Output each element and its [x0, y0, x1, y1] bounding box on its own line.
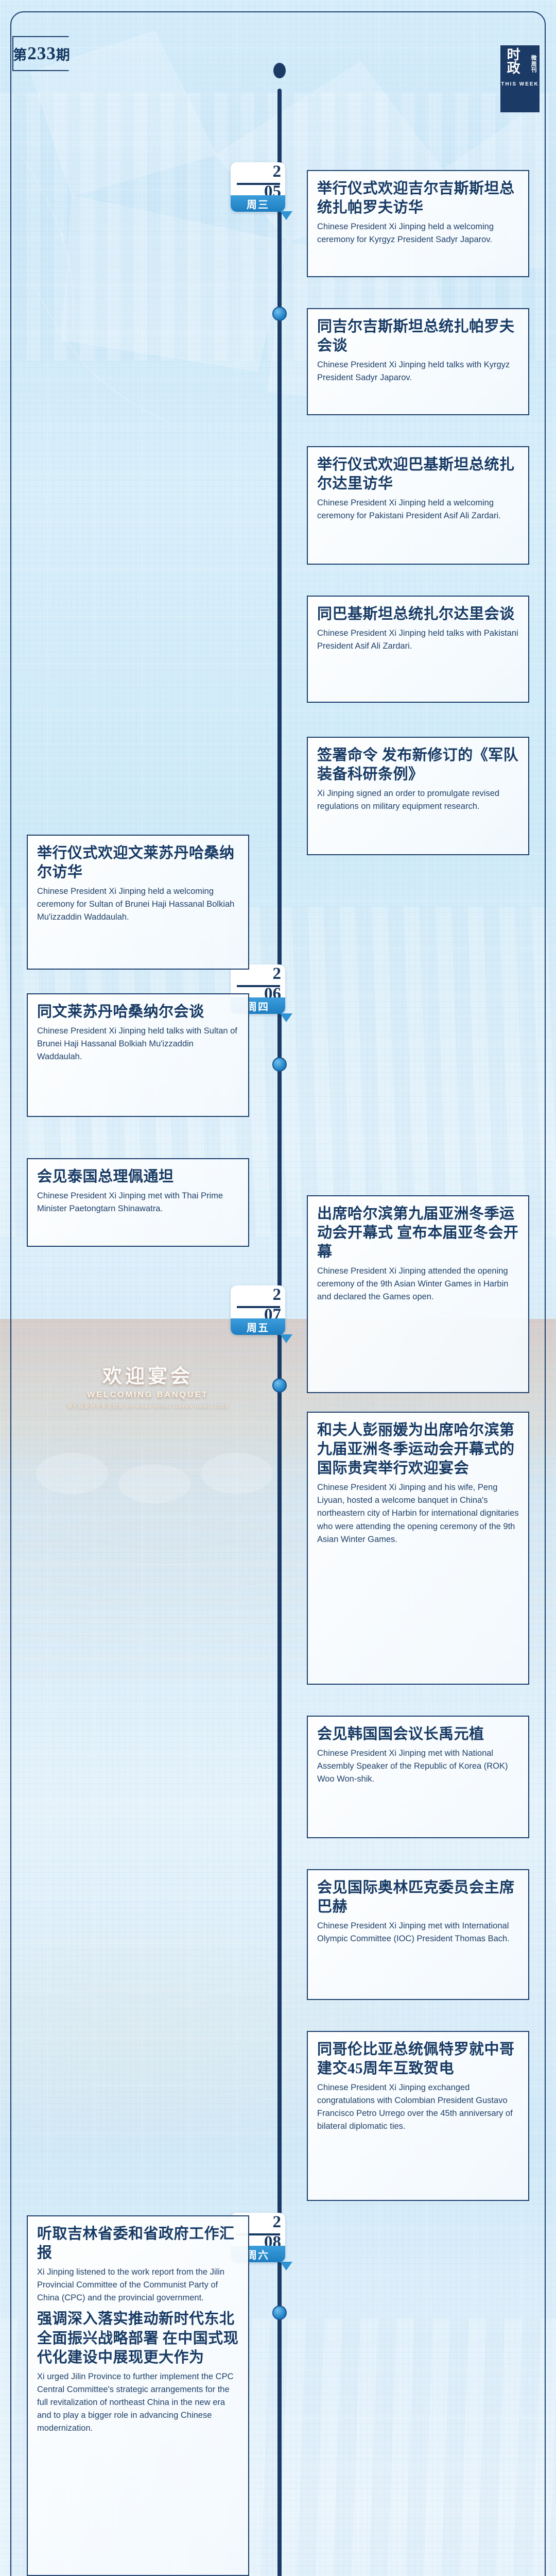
banquet-title-cn: 欢迎宴会 [27, 1360, 269, 1388]
brand-logo-en: THIS WEEK [501, 81, 539, 87]
timeline-node-0208 [272, 2306, 287, 2320]
issue-prefix: 第 [13, 44, 27, 64]
news-card-title-en: Chinese President Xi Jinping held a welc… [317, 497, 519, 522]
date-chip-pointer [280, 211, 292, 220]
date-month: 2 [273, 163, 282, 180]
timeline-start-dot [273, 63, 286, 78]
news-card-title-en: Chinese President Xi Jinping met with Na… [317, 1747, 519, 1786]
banquet-title-en: WELCOMING BANQUET [27, 1391, 269, 1400]
date-chip-0207[interactable]: 2 07 周五 [231, 1285, 285, 1335]
news-card[interactable]: 会见泰国总理佩通坦 Chinese President Xi Jinping m… [27, 1158, 249, 1247]
news-card-title-cn: 签署命令 发布新修订的《军队装备科研条例》 [317, 746, 519, 784]
timeline-node-0207 [272, 1378, 287, 1393]
news-card-title-cn: 同巴基斯坦总统扎尔达里会谈 [317, 605, 519, 624]
news-card-title-cn: 举行仪式欢迎巴基斯坦总统扎尔达里访华 [317, 455, 519, 494]
news-card-title-cn: 和夫人彭丽媛为出席哈尔滨第九届亚洲冬季运动会开幕式的国际贵宾举行欢迎宴会 [317, 1421, 519, 1478]
news-card[interactable]: 出席哈尔滨第九届亚洲冬季运动会开幕式 宣布本届亚冬会开幕 Chinese Pre… [307, 1195, 529, 1393]
news-card[interactable]: 同文莱苏丹哈桑纳尔会谈 Chinese President Xi Jinping… [27, 993, 249, 1117]
news-card-title-cn: 举行仪式欢迎文莱苏丹哈桑纳尔访华 [37, 844, 239, 882]
news-card[interactable]: 签署命令 发布新修订的《军队装备科研条例》 Xi Jinping signed … [307, 737, 529, 855]
issue-badge: 第233期 [12, 36, 76, 71]
brand-logo-cn: 时政 微 周刊 [500, 48, 540, 75]
news-card-title-en: Chinese President Xi Jinping met with In… [317, 1920, 519, 1945]
news-card[interactable]: 和夫人彭丽媛为出席哈尔滨第九届亚洲冬季运动会开幕式的国际贵宾举行欢迎宴会 Chi… [307, 1412, 529, 1685]
news-card[interactable]: 举行仪式欢迎文莱苏丹哈桑纳尔访华 Chinese President Xi Ji… [27, 835, 249, 970]
news-card-title-cn: 出席哈尔滨第九届亚洲冬季运动会开幕式 宣布本届亚冬会开幕 [317, 1205, 519, 1262]
news-card[interactable]: 举行仪式欢迎巴基斯坦总统扎尔达里访华 Chinese President Xi … [307, 446, 529, 565]
date-weekday: 周三 [231, 195, 285, 212]
date-chip-pointer [280, 1013, 292, 1022]
brand-logo-side-bottom: 周刊 [531, 61, 537, 74]
news-card-title-cn: 听取吉林省委和省政府工作汇报 [37, 2225, 239, 2263]
news-card[interactable]: 同吉尔吉斯斯坦总统扎帕罗夫会谈 Chinese President Xi Jin… [307, 308, 529, 415]
news-card-title-cn: 会见国际奥林匹克委员会主席巴赫 [317, 1878, 519, 1917]
news-card-title-cn: 同哥伦比亚总统佩特罗就中哥建交45周年互致贺电 [317, 2040, 519, 2078]
brand-logo: 时政 微 周刊 THIS WEEK [500, 45, 540, 112]
date-weekday: 周五 [231, 1318, 285, 1335]
news-card-title-en: Chinese President Xi Jinping held talks … [317, 627, 519, 653]
date-month: 2 [273, 1286, 282, 1303]
brand-logo-main: 时政 [500, 48, 527, 75]
issue-suffix: 期 [56, 44, 71, 64]
news-card-title-cn: 同吉尔吉斯斯坦总统扎帕罗夫会谈 [317, 317, 519, 355]
news-card[interactable]: 同哥伦比亚总统佩特罗就中哥建交45周年互致贺电 Chinese Presiden… [307, 2031, 529, 2201]
date-month: 2 [273, 2214, 282, 2231]
news-card-title-cn: 举行仪式欢迎吉尔吉斯斯坦总统扎帕罗夫访华 [317, 179, 519, 217]
news-card[interactable]: 举行仪式欢迎吉尔吉斯斯坦总统扎帕罗夫访华 Chinese President X… [307, 170, 529, 277]
news-card-title-cn: 会见泰国总理佩通坦 [37, 1167, 239, 1187]
date-month: 2 [273, 965, 282, 982]
news-card-title-en: Chinese President Xi Jinping and his wif… [317, 1481, 519, 1546]
news-card-title-cn-2: 强调深入落实推动新时代东北全面振兴战略部署 在中国式现代化建设中展现更大作为 [37, 2310, 239, 2367]
news-card-title-en: Xi Jinping signed an order to promulgate… [317, 787, 519, 813]
timeline-node-0206 [272, 1057, 287, 1072]
issue-number: 233 [27, 43, 56, 64]
date-chip-0205[interactable]: 2 05 周三 [231, 162, 285, 212]
date-chip-pointer [280, 2262, 292, 2270]
news-card[interactable]: 同巴基斯坦总统扎尔达里会谈 Chinese President Xi Jinpi… [307, 596, 529, 703]
news-card-title-en: Chinese President Xi Jinping met with Th… [37, 1190, 239, 1215]
news-card-title-en-2: Xi urged Jilin Province to further imple… [37, 2370, 239, 2435]
banquet-overlay: 欢迎宴会 WELCOMING BANQUET 第九届亚洲冬季运动会 9th As… [27, 1360, 269, 1410]
banquet-subtitle: 第九届亚洲冬季运动会 9th Asian Winter Games Harbin… [27, 1402, 269, 1410]
news-card-title-en: Chinese President Xi Jinping exchanged c… [317, 2081, 519, 2133]
news-card-title-en: Chinese President Xi Jinping attended th… [317, 1265, 519, 1303]
brand-logo-side-top: 微 [531, 55, 537, 61]
news-card-title-en: Chinese President Xi Jinping held a welc… [37, 885, 239, 924]
news-card[interactable]: 听取吉林省委和省政府工作汇报 Xi Jinping listened to th… [27, 2215, 249, 2576]
news-card[interactable]: 会见韩国国会议长禹元植 Chinese President Xi Jinping… [307, 1716, 529, 1838]
news-card-title-en: Chinese President Xi Jinping held talks … [37, 1025, 239, 1063]
timeline-node-0205 [272, 307, 287, 321]
brand-logo-side: 微 周刊 [528, 56, 540, 75]
news-card-title-cn: 同文莱苏丹哈桑纳尔会谈 [37, 1003, 239, 1022]
news-card-title-en: Xi Jinping listened to the work report f… [37, 2266, 239, 2304]
news-card-title-en: Chinese President Xi Jinping held talks … [317, 359, 519, 384]
news-card-title-en: Chinese President Xi Jinping held a welc… [317, 221, 519, 246]
news-card[interactable]: 会见国际奥林匹克委员会主席巴赫 Chinese President Xi Jin… [307, 1869, 529, 2000]
date-chip-pointer [280, 1334, 292, 1343]
issue-badge-text: 第233期 [12, 36, 76, 71]
news-card-title-cn: 会见韩国国会议长禹元植 [317, 1725, 519, 1744]
